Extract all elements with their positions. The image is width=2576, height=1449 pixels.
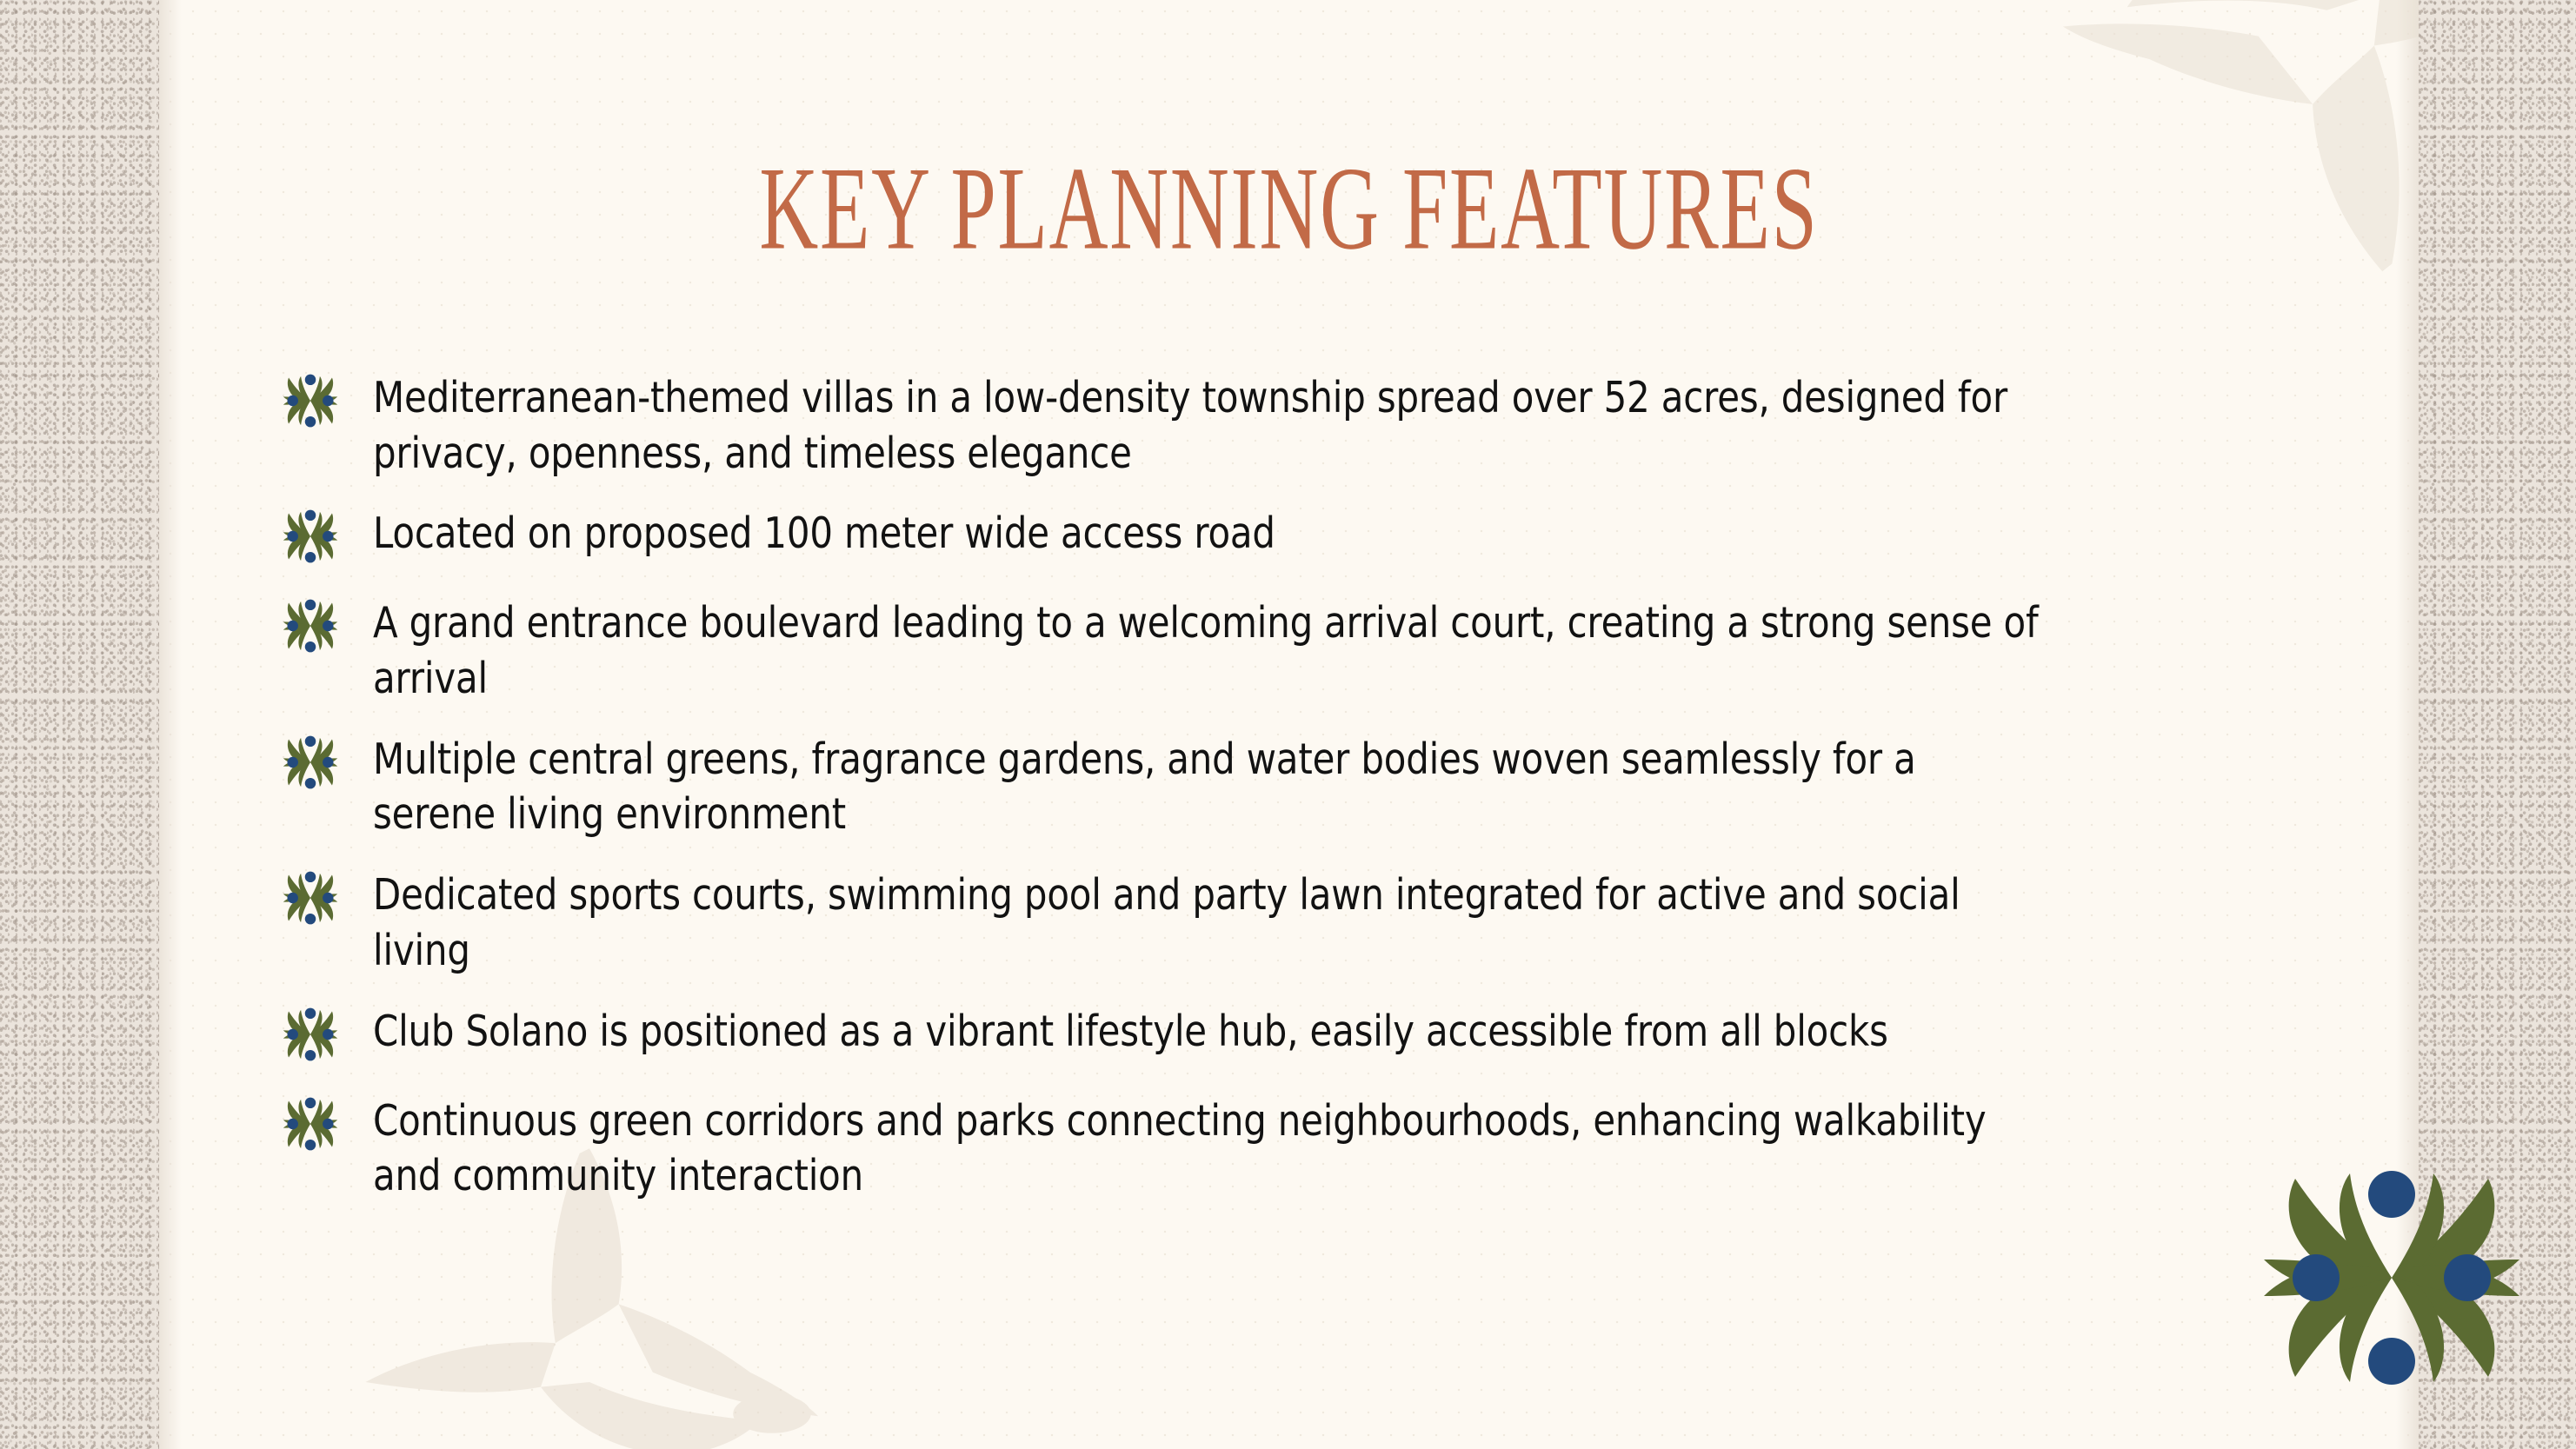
olive-branch-ornament-icon <box>276 502 344 570</box>
slide-content-panel: KEY PLANNING FEATURES <box>159 0 2419 1449</box>
list-item-label: Club Solano is positioned as a vibrant l… <box>373 997 2045 1060</box>
olive-branch-ornament-icon <box>276 864 344 932</box>
list-item-label: A grand entrance boulevard leading to a … <box>373 588 2045 706</box>
list-item-label: Mediterranean-themed villas in a low-den… <box>373 363 2045 481</box>
olive-branch-ornament-icon <box>276 367 344 435</box>
list-item-label: Multiple central greens, fragrance garde… <box>373 725 2045 842</box>
list-item: Located on proposed 100 meter wide acces… <box>276 499 2328 570</box>
olive-branch-ornament-icon <box>2248 1147 2535 1408</box>
list-item-label: Continuous green corridors and parks con… <box>373 1087 2045 1204</box>
list-item: Dedicated sports courts, swimming pool a… <box>276 861 2328 978</box>
olive-branch-ornament-icon <box>276 1090 344 1158</box>
list-item: Mediterranean-themed villas in a low-den… <box>276 363 2328 481</box>
left-texture-border <box>0 0 159 1449</box>
list-item-label: Dedicated sports courts, swimming pool a… <box>373 861 2045 978</box>
list-item: Continuous green corridors and parks con… <box>276 1087 2328 1204</box>
olive-branch-ornament-icon <box>276 728 344 796</box>
list-item-label: Located on proposed 100 meter wide acces… <box>373 499 2045 562</box>
list-item: Multiple central greens, fragrance garde… <box>276 725 2328 842</box>
slide-title: KEY PLANNING FEATURES <box>340 150 2238 269</box>
slide-canvas: KEY PLANNING FEATURES <box>0 0 2576 1449</box>
panel-left-edge-shade <box>159 0 182 1449</box>
olive-branch-ornament-icon <box>276 592 344 660</box>
list-item: A grand entrance boulevard leading to a … <box>276 588 2328 706</box>
olive-branch-ornament-icon <box>276 1000 344 1068</box>
key-features-list: Mediterranean-themed villas in a low-den… <box>276 363 2328 1222</box>
list-item: Club Solano is positioned as a vibrant l… <box>276 997 2328 1068</box>
